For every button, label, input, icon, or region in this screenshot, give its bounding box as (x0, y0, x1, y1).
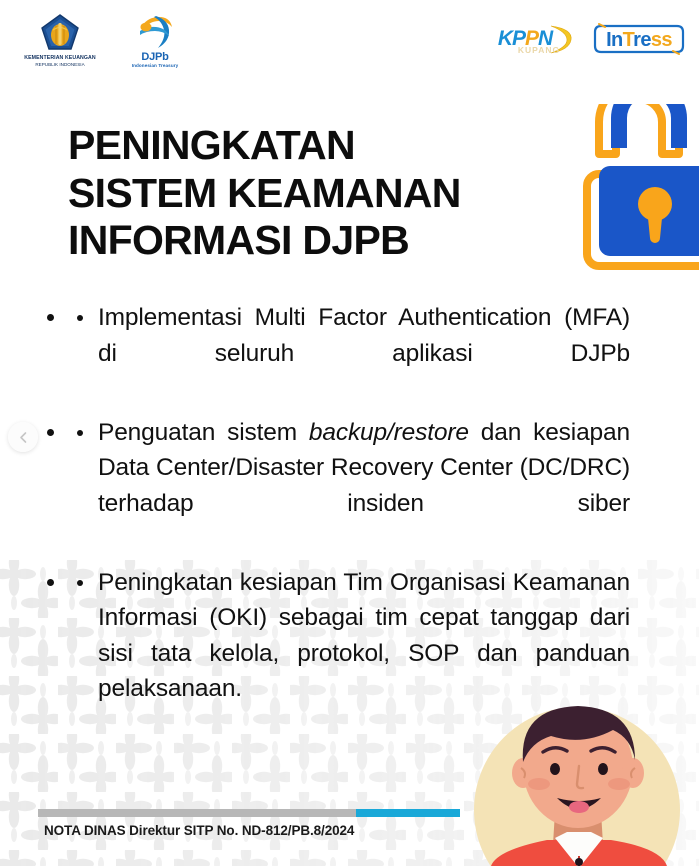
intress-logo: InTress (591, 20, 687, 58)
progress-rule-blue (356, 809, 460, 817)
svg-text:InTress: InTress (606, 29, 672, 51)
list-item: Implementasi Multi Factor Authentication… (68, 300, 630, 407)
header-logo-bar: KEMENTERIAN KEUANGAN REPUBLIK INDONESIA … (0, 0, 699, 92)
page-title: PENINGKATAN SISTEM KEAMANAN INFORMASI DJ… (68, 122, 588, 265)
carousel-prev-button[interactable] (8, 422, 38, 452)
source-note: NOTA DINAS Direktur SITP No. ND-812/PB.8… (44, 823, 354, 838)
list-item: Penguatan sistem backup/restore dan kesi… (68, 415, 630, 557)
kemenkeu-shield-icon (40, 14, 80, 52)
list-item-emphasis: backup/restore (309, 419, 469, 446)
list-item-text: Implementasi Multi Factor Authentication… (98, 304, 630, 367)
kemenkeu-logo-line2: REPUBLIK INDONESIA (16, 62, 104, 68)
page-title-line-1: PENINGKATAN (68, 122, 588, 170)
logo-group-right: KPPN KUPANG InTress (479, 20, 687, 58)
logo-group-left: KEMENTERIAN KEUANGAN REPUBLIK INDONESIA … (16, 14, 186, 68)
bullet-list: Implementasi Multi Factor Authentication… (68, 300, 630, 742)
kppn-logo: KPPN KUPANG (479, 22, 577, 56)
kemenkeu-logo-line1: KEMENTERIAN KEUANGAN (16, 55, 104, 62)
progress-rule (38, 809, 666, 817)
chevron-left-icon (17, 431, 30, 444)
djpb-logo: DJPb Indonesian Treasury (124, 14, 186, 68)
djpb-swoosh-icon (136, 14, 174, 50)
djpb-logo-primary: DJPb (124, 51, 186, 63)
list-item: Peningkatan kesiapan Tim Organisasi Keam… (68, 565, 630, 743)
kemenkeu-logo: KEMENTERIAN KEUANGAN REPUBLIK INDONESIA (16, 14, 104, 68)
page-title-line-3: INFORMASI DJPB (68, 217, 588, 265)
list-item-text: Peningkatan kesiapan Tim Organisasi Keam… (98, 569, 630, 703)
progress-rule-gray (38, 809, 356, 817)
list-item-text: Penguatan sistem (98, 419, 309, 446)
slide-canvas: KEMENTERIAN KEUANGAN REPUBLIK INDONESIA … (0, 0, 699, 866)
padlock-icon (577, 104, 699, 284)
svg-text:KUPANG: KUPANG (518, 45, 560, 55)
page-title-line-2: SISTEM KEAMANAN (68, 170, 588, 218)
djpb-logo-secondary: Indonesian Treasury (124, 63, 186, 68)
